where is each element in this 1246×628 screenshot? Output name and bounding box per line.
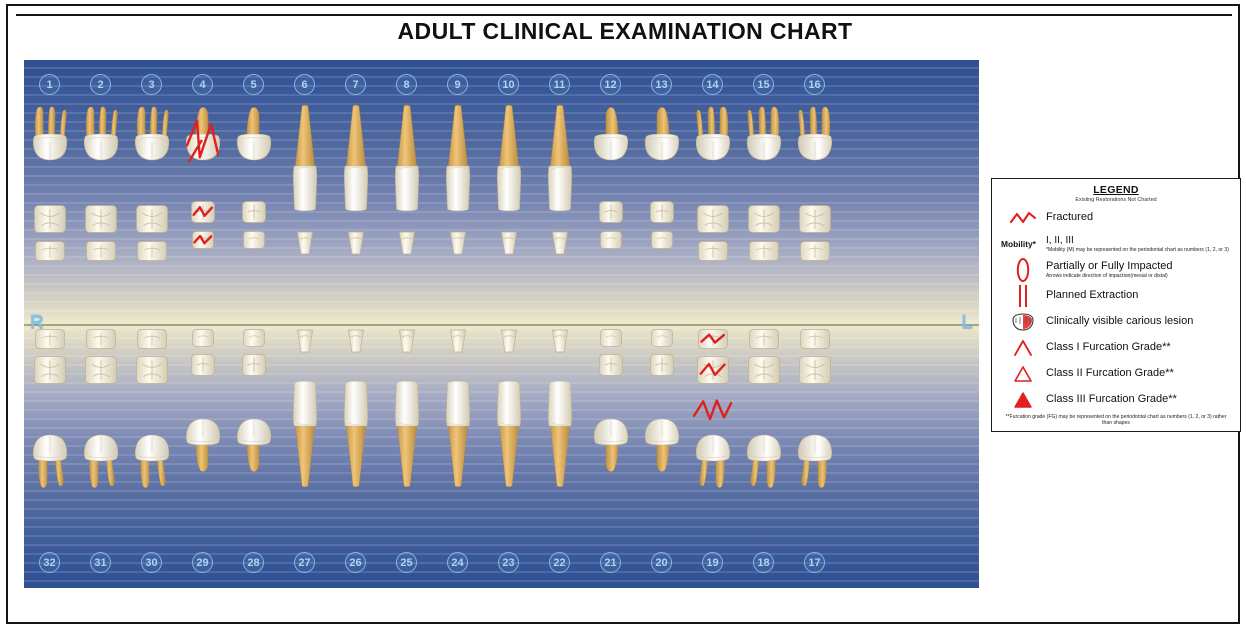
legend-item-0: Fractured — [998, 205, 1234, 231]
tooth-25-incisal-view — [397, 328, 417, 354]
tooth-number-5[interactable]: 5 — [243, 74, 264, 95]
tooth-6-facial-view — [285, 104, 325, 212]
tooth-29-lingual-view — [191, 328, 215, 348]
zero-impacted-icon — [1000, 257, 1046, 283]
tooth-9[interactable] — [432, 104, 483, 256]
tooth-number-15[interactable]: 15 — [753, 74, 774, 95]
tooth-20-occlusal-view — [649, 353, 675, 377]
tooth-31-facial-view — [81, 391, 121, 491]
tooth-10-facial-view — [489, 104, 529, 212]
tooth-14-occlusal-view — [696, 204, 730, 234]
tooth-21-occlusal-view — [598, 353, 624, 377]
tooth-number-cell: 13 — [636, 74, 687, 95]
legend-item-2-fineprint: Arrows indicate direction of impaction(m… — [1046, 273, 1173, 279]
tooth-number-cell: 30 — [126, 552, 177, 573]
tooth-15-lingual-view — [748, 240, 780, 262]
tooth-4-occlusal-view — [190, 200, 216, 224]
tooth-1-occlusal-view — [33, 204, 67, 234]
tooth-28[interactable] — [228, 328, 279, 475]
legend-item-4-label: Clinically visible carious lesion — [1046, 315, 1193, 327]
tooth-number-28[interactable]: 28 — [243, 552, 264, 573]
tooth-18[interactable] — [738, 328, 789, 491]
tooth-21-facial-view — [591, 383, 631, 475]
tooth-19-lingual-view — [697, 328, 729, 350]
legend-item-6-label: Class II Furcation Grade** — [1046, 367, 1174, 379]
tooth-number-cell: 24 — [432, 552, 483, 573]
mobility-values: I, II, III — [1046, 235, 1074, 246]
tooth-number-cell: 18 — [738, 552, 789, 573]
tooth-4-facial-view — [183, 104, 223, 196]
tooth-32-occlusal-view — [33, 355, 67, 385]
tooth-number-cell: 8 — [381, 74, 432, 95]
legend-item-1: Mobility*I, II, III*Mobility (M) may be … — [998, 231, 1234, 257]
mobility-label: Mobility* — [1000, 239, 1046, 249]
tooth-number-4[interactable]: 4 — [192, 74, 213, 95]
tooth-number-8[interactable]: 8 — [396, 74, 417, 95]
tooth-number-18[interactable]: 18 — [753, 552, 774, 573]
tooth-2-facial-view — [81, 104, 121, 200]
tooth-3-occlusal-view — [135, 204, 169, 234]
tooth-number-1[interactable]: 1 — [39, 74, 60, 95]
legend-item-2: Partially or Fully ImpactedArrows indica… — [998, 257, 1234, 283]
double-bar-extraction-icon — [1000, 284, 1046, 308]
tooth-number-cell: 5 — [228, 74, 279, 95]
arch-midline — [24, 324, 979, 326]
tooth-31-occlusal-view — [84, 355, 118, 385]
tooth-2-occlusal-view — [84, 204, 118, 234]
tooth-number-cell: 16 — [789, 74, 840, 95]
tooth-number-cell: 9 — [432, 74, 483, 95]
tooth-13-lingual-view — [650, 230, 674, 250]
tooth-number-cell: 3 — [126, 74, 177, 95]
tooth-number-cell: 31 — [75, 552, 126, 573]
tooth-3-lingual-view — [136, 240, 168, 262]
tooth-27[interactable] — [279, 328, 330, 488]
tooth-number-23[interactable]: 23 — [498, 552, 519, 573]
tooth-number-cell: 17 — [789, 552, 840, 573]
tooth-32-lingual-view — [34, 328, 66, 350]
tooth-24-facial-view — [438, 380, 478, 488]
tooth-number-10[interactable]: 10 — [498, 74, 519, 95]
tooth-11-incisal-view — [550, 230, 570, 256]
tooth-5-occlusal-view — [241, 200, 267, 224]
tooth-20-facial-view — [642, 383, 682, 475]
tooth-28-lingual-view — [242, 328, 266, 348]
tooth-number-cell: 20 — [636, 552, 687, 573]
tooth-number-30[interactable]: 30 — [141, 552, 162, 573]
title-divider — [16, 14, 1232, 16]
tooth-4[interactable] — [177, 104, 228, 250]
tooth-14-lingual-view — [697, 240, 729, 262]
legend-box: LEGEND Existing Restorations Not Charted… — [991, 178, 1241, 432]
tooth-number-cell: 11 — [534, 74, 585, 95]
tooth-7-incisal-view — [346, 230, 366, 256]
tooth-number-29[interactable]: 29 — [192, 552, 213, 573]
tooth-17-facial-view — [795, 391, 835, 491]
tooth-21[interactable] — [585, 328, 636, 475]
tooth-2[interactable] — [75, 104, 126, 262]
tooth-3-facial-view — [132, 104, 172, 200]
legend-title: LEGEND — [998, 184, 1234, 196]
legend-items: FracturedMobility*I, II, III*Mobility (M… — [998, 205, 1234, 413]
legend-item-0-text: Fractured — [1046, 212, 1093, 224]
tooth-number-2[interactable]: 2 — [90, 74, 111, 95]
tooth-5[interactable] — [228, 104, 279, 250]
legend-item-1-text: I, II, III*Mobility (M) may be represent… — [1046, 235, 1229, 254]
tooth-23-facial-view — [489, 380, 529, 488]
tooth-5-facial-view — [234, 104, 274, 196]
upper-tooth-number-row: 12345678910111213141516 — [24, 74, 979, 95]
tooth-number-14[interactable]: 14 — [702, 74, 723, 95]
tooth-24[interactable] — [432, 328, 483, 488]
legend-item-4-text: Clinically visible carious lesion — [1046, 316, 1193, 328]
tooth-number-cell: 10 — [483, 74, 534, 95]
triangle-filled-furcation-iii-icon — [1000, 391, 1046, 409]
tooth-8-incisal-view — [397, 230, 417, 256]
legend-item-6-text: Class II Furcation Grade** — [1046, 368, 1174, 380]
tooth-number-cell: 23 — [483, 552, 534, 573]
tooth-29[interactable] — [177, 328, 228, 475]
tooth-18-occlusal-view — [747, 355, 781, 385]
legend-item-3-label: Planned Extraction — [1046, 289, 1138, 301]
tooth-13-occlusal-view — [649, 200, 675, 224]
tooth-number-cell: 7 — [330, 74, 381, 95]
tooth-13[interactable] — [636, 104, 687, 250]
tooth-23-incisal-view — [499, 328, 519, 354]
legend-item-7-label: Class III Furcation Grade** — [1046, 393, 1177, 405]
tooth-number-cell: 14 — [687, 74, 738, 95]
tooth-32-facial-view — [30, 391, 70, 491]
tooth-16-facial-view — [795, 104, 835, 200]
tooth-28-occlusal-view — [241, 353, 267, 377]
page-title: ADULT CLINICAL EXAMINATION CHART — [8, 18, 1242, 45]
tooth-4-lingual-view — [191, 230, 215, 250]
tooth-29-facial-view — [183, 383, 223, 475]
legend-item-7-text: Class III Furcation Grade** — [1046, 394, 1177, 406]
tooth-7[interactable] — [330, 104, 381, 256]
tooth-6-incisal-view — [295, 230, 315, 256]
legend-footnote: **Furcation grade (FG) may be represente… — [998, 414, 1234, 427]
tooth-number-cell: 27 — [279, 552, 330, 573]
tooth-9-facial-view — [438, 104, 478, 212]
tooth-26-facial-view — [336, 380, 376, 488]
tooth-17-lingual-view — [799, 328, 831, 350]
tooth-28-facial-view — [234, 383, 274, 475]
tooth-number-21[interactable]: 21 — [600, 552, 621, 573]
tooth-number-cell: 26 — [330, 552, 381, 573]
tooth-number-25[interactable]: 25 — [396, 552, 417, 573]
legend-item-4: Clinically visible carious lesion — [998, 309, 1234, 335]
legend-item-3-text: Planned Extraction — [1046, 290, 1138, 302]
tooth-18-lingual-view — [748, 328, 780, 350]
tooth-number-cell: 32 — [24, 552, 75, 573]
chart-outer-frame: ADULT CLINICAL EXAMINATION CHART R L 123… — [6, 4, 1240, 624]
tooth-16-occlusal-view — [798, 204, 832, 234]
carious-lesion-icon — [1000, 313, 1046, 331]
tooth-23[interactable] — [483, 328, 534, 488]
legend-item-5: Class I Furcation Grade** — [998, 335, 1234, 361]
chevron-furcation-i-icon — [1000, 339, 1046, 357]
tooth-number-32[interactable]: 32 — [39, 552, 60, 573]
tooth-11-facial-view — [540, 104, 580, 212]
tooth-number-cell: 12 — [585, 74, 636, 95]
legend-item-2-label: Partially or Fully Impacted — [1046, 260, 1173, 272]
tooth-number-11[interactable]: 11 — [549, 74, 570, 95]
tooth-31-lingual-view — [85, 328, 117, 350]
tooth-number-cell: 1 — [24, 74, 75, 95]
tooth-1-facial-view — [30, 104, 70, 200]
tooth-number-cell: 2 — [75, 74, 126, 95]
tooth-number-31[interactable]: 31 — [90, 552, 111, 573]
tooth-11[interactable] — [534, 104, 585, 256]
tooth-number-22[interactable]: 22 — [549, 552, 570, 573]
tooth-12-occlusal-view — [598, 200, 624, 224]
tooth-27-incisal-view — [295, 328, 315, 354]
tooth-22-incisal-view — [550, 328, 570, 354]
tooth-19[interactable] — [687, 328, 738, 491]
tooth-number-cell: 22 — [534, 552, 585, 573]
tooth-29-occlusal-view — [190, 353, 216, 377]
upper-arch — [24, 104, 979, 322]
tooth-chart-panel: R L 12345678910111213141516 — [24, 60, 979, 588]
tooth-number-27[interactable]: 27 — [294, 552, 315, 573]
tooth-number-17[interactable]: 17 — [804, 552, 825, 573]
zigzag-fracture-icon — [1000, 211, 1046, 225]
tooth-number-cell: 4 — [177, 74, 228, 95]
tooth-number-16[interactable]: 16 — [804, 74, 825, 95]
legend-subtitle: Existing Restorations Not Charted — [998, 197, 1234, 203]
tooth-19-facial-view — [693, 391, 733, 491]
tooth-12-facial-view — [591, 104, 631, 196]
tooth-24-incisal-view — [448, 328, 468, 354]
tooth-22-facial-view — [540, 380, 580, 488]
tooth-number-cell: 6 — [279, 74, 330, 95]
tooth-number-cell: 25 — [381, 552, 432, 573]
tooth-12-lingual-view — [599, 230, 623, 250]
tooth-8[interactable] — [381, 104, 432, 256]
tooth-32[interactable] — [24, 328, 75, 491]
legend-item-0-label: Fractured — [1046, 211, 1093, 223]
tooth-number-7[interactable]: 7 — [345, 74, 366, 95]
tooth-number-3[interactable]: 3 — [141, 74, 162, 95]
tooth-31[interactable] — [75, 328, 126, 491]
tooth-27-facial-view — [285, 380, 325, 488]
tooth-9-incisal-view — [448, 230, 468, 256]
legend-item-6: Class II Furcation Grade** — [998, 361, 1234, 387]
tooth-12[interactable] — [585, 104, 636, 250]
tooth-number-cell: 28 — [228, 552, 279, 573]
tooth-15-occlusal-view — [747, 204, 781, 234]
tooth-number-cell: 19 — [687, 552, 738, 573]
tooth-number-12[interactable]: 12 — [600, 74, 621, 95]
tooth-25[interactable] — [381, 328, 432, 488]
tooth-number-24[interactable]: 24 — [447, 552, 468, 573]
tooth-8-facial-view — [387, 104, 427, 212]
legend-item-1-fineprint: *Mobility (M) may be represented on the … — [1046, 247, 1229, 253]
legend-item-2-text: Partially or Fully ImpactedArrows indica… — [1046, 261, 1173, 280]
tooth-6[interactable] — [279, 104, 330, 256]
tooth-25-facial-view — [387, 380, 427, 488]
tooth-30-occlusal-view — [135, 355, 169, 385]
tooth-2-lingual-view — [85, 240, 117, 262]
tooth-1-lingual-view — [34, 240, 66, 262]
tooth-20-lingual-view — [650, 328, 674, 348]
tooth-30-lingual-view — [136, 328, 168, 350]
tooth-number-9[interactable]: 9 — [447, 74, 468, 95]
tooth-number-cell: 29 — [177, 552, 228, 573]
tooth-number-6[interactable]: 6 — [294, 74, 315, 95]
tooth-20[interactable] — [636, 328, 687, 475]
legend-item-3: Planned Extraction — [998, 283, 1234, 309]
tooth-number-cell: 21 — [585, 552, 636, 573]
lower-tooth-number-row: 32313029282726252423222120191817 — [24, 552, 979, 573]
tooth-16-lingual-view — [799, 240, 831, 262]
tooth-16[interactable] — [789, 104, 840, 262]
tooth-30[interactable] — [126, 328, 177, 491]
tooth-number-13[interactable]: 13 — [651, 74, 672, 95]
legend-item-5-label: Class I Furcation Grade** — [1046, 341, 1171, 353]
tooth-14-facial-view — [693, 104, 733, 200]
tooth-22[interactable] — [534, 328, 585, 488]
tooth-number-cell: 15 — [738, 74, 789, 95]
tooth-7-facial-view — [336, 104, 376, 212]
tooth-18-facial-view — [744, 391, 784, 491]
adult-clinical-examination-chart-page: ADULT CLINICAL EXAMINATION CHART R L 123… — [0, 0, 1246, 628]
tooth-number-20[interactable]: 20 — [651, 552, 672, 573]
tooth-10-incisal-view — [499, 230, 519, 256]
tooth-19-occlusal-view — [696, 355, 730, 385]
tooth-17-occlusal-view — [798, 355, 832, 385]
tooth-13-facial-view — [642, 104, 682, 196]
tooth-15[interactable] — [738, 104, 789, 262]
tooth-17[interactable] — [789, 328, 840, 491]
tooth-30-facial-view — [132, 391, 172, 491]
tooth-number-26[interactable]: 26 — [345, 552, 366, 573]
tooth-21-lingual-view — [599, 328, 623, 348]
tooth-10[interactable] — [483, 104, 534, 256]
tooth-3[interactable] — [126, 104, 177, 262]
tooth-number-19[interactable]: 19 — [702, 552, 723, 573]
lower-arch — [24, 328, 979, 550]
tooth-5-lingual-view — [242, 230, 266, 250]
legend-item-5-text: Class I Furcation Grade** — [1046, 342, 1171, 354]
tooth-26[interactable] — [330, 328, 381, 488]
tooth-26-incisal-view — [346, 328, 366, 354]
tooth-1[interactable] — [24, 104, 75, 262]
legend-item-7: Class III Furcation Grade** — [998, 387, 1234, 413]
triangle-outline-furcation-ii-icon — [1000, 365, 1046, 383]
tooth-14[interactable] — [687, 104, 738, 262]
tooth-15-facial-view — [744, 104, 784, 200]
